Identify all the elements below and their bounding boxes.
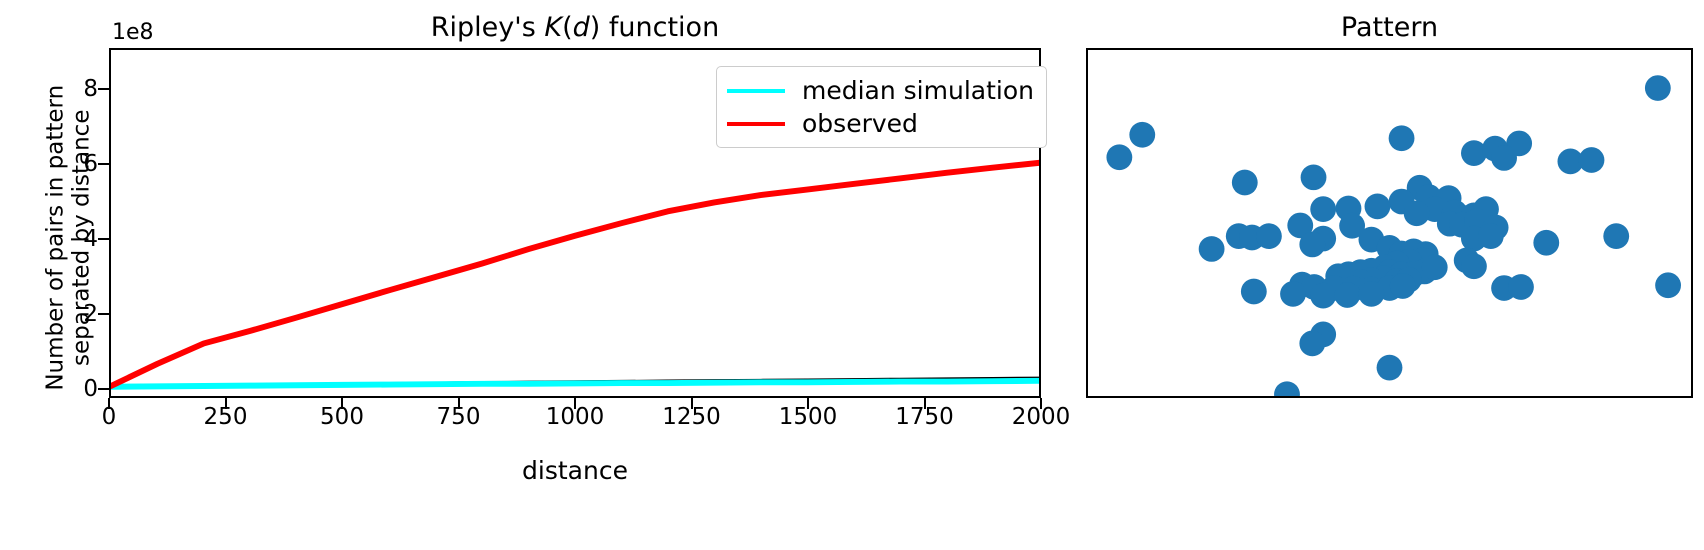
title-paren-open: (: [562, 12, 573, 43]
y-tick-mark-3: [98, 163, 109, 165]
x-tick-mark-8: [1040, 398, 1042, 409]
y-axis-label-line-1: Number of pairs in pattern: [43, 28, 69, 448]
scatter-point: [1256, 223, 1282, 249]
scatter-point: [1106, 144, 1132, 170]
legend-label-observed: observed: [802, 109, 918, 138]
legend-label-median-simulation: median simulation: [802, 76, 1034, 105]
scatter-point: [1310, 283, 1336, 309]
scatter-point: [1199, 236, 1225, 262]
pattern-scatter-svg: [1088, 50, 1691, 396]
figure-canvas: Ripley's K(d) function 1e8 02468 0250500…: [0, 0, 1704, 550]
scatter-point: [1274, 381, 1300, 396]
scatter-point: [1533, 230, 1559, 256]
median-simulation-line: [111, 381, 1039, 387]
x-tick-mark-5: [691, 398, 693, 409]
pattern-plot-area: [1086, 48, 1693, 398]
x-tick-mark-7: [924, 398, 926, 409]
legend-swatch-median-simulation: [727, 89, 785, 93]
ripleys-k-panel: Ripley's K(d) function 1e8 02468 0250500…: [0, 0, 1075, 550]
scatter-point: [1301, 164, 1327, 190]
title-k-symbol: K: [544, 12, 562, 43]
scatter-point: [1655, 272, 1681, 298]
y-tick-mark-2: [98, 238, 109, 240]
scatter-point: [1422, 254, 1448, 280]
scatter-point: [1508, 274, 1534, 300]
legend-swatch-observed: [727, 122, 785, 126]
scatter-point: [1299, 331, 1325, 357]
scatter-point: [1404, 200, 1430, 226]
scatter-point: [1334, 282, 1360, 308]
scatter-point: [1461, 253, 1487, 279]
scatter-point: [1280, 281, 1306, 307]
title-suffix: function: [600, 12, 719, 43]
k-panel-title: Ripley's K(d) function: [110, 12, 1040, 43]
x-tick-mark-4: [574, 398, 576, 409]
y-tick-mark-1: [98, 313, 109, 315]
x-axis-tick-marks: [109, 398, 1041, 410]
scatter-point: [1358, 281, 1384, 307]
scatter-point: [1645, 75, 1671, 101]
chart-legend[interactable]: median simulation observed: [716, 66, 1047, 148]
scatter-point: [1579, 147, 1605, 173]
legend-item-median-simulation[interactable]: median simulation: [727, 74, 1034, 107]
scatter-point: [1232, 170, 1258, 196]
scatter-point: [1491, 145, 1517, 171]
scatter-point: [1299, 232, 1325, 258]
x-axis-label: distance: [109, 456, 1041, 485]
x-tick-mark-6: [807, 398, 809, 409]
pattern-panel-title: Pattern: [1086, 12, 1693, 43]
y-tick-mark-4: [98, 88, 109, 90]
title-prefix: Ripley's: [431, 12, 545, 43]
x-tick-mark-2: [341, 398, 343, 409]
y-axis-tick-marks: [98, 48, 110, 398]
scatter-point: [1389, 125, 1415, 151]
y-axis-label: Number of pairs in pattern separated by …: [43, 28, 95, 448]
x-tick-mark-0: [108, 398, 110, 409]
pattern-panel: Pattern: [1075, 0, 1704, 550]
y-axis-label-line-2: separated by distance: [69, 28, 95, 448]
scatter-point: [1365, 194, 1391, 220]
scatter-point: [1241, 279, 1267, 305]
scatter-point: [1377, 355, 1403, 381]
title-paren-close: ): [590, 12, 601, 43]
title-d-symbol: d: [573, 12, 590, 43]
observed-line: [111, 163, 1039, 386]
scatter-point: [1129, 122, 1155, 148]
x-tick-mark-1: [225, 398, 227, 409]
scatter-point: [1310, 196, 1336, 222]
y-axis-offset-exponent: 1e8: [112, 20, 154, 45]
legend-item-observed[interactable]: observed: [727, 107, 1034, 140]
scatter-point: [1390, 273, 1416, 299]
scatter-point: [1478, 223, 1504, 249]
y-tick-mark-0: [98, 388, 109, 390]
scatter-point: [1603, 223, 1629, 249]
x-tick-mark-3: [458, 398, 460, 409]
